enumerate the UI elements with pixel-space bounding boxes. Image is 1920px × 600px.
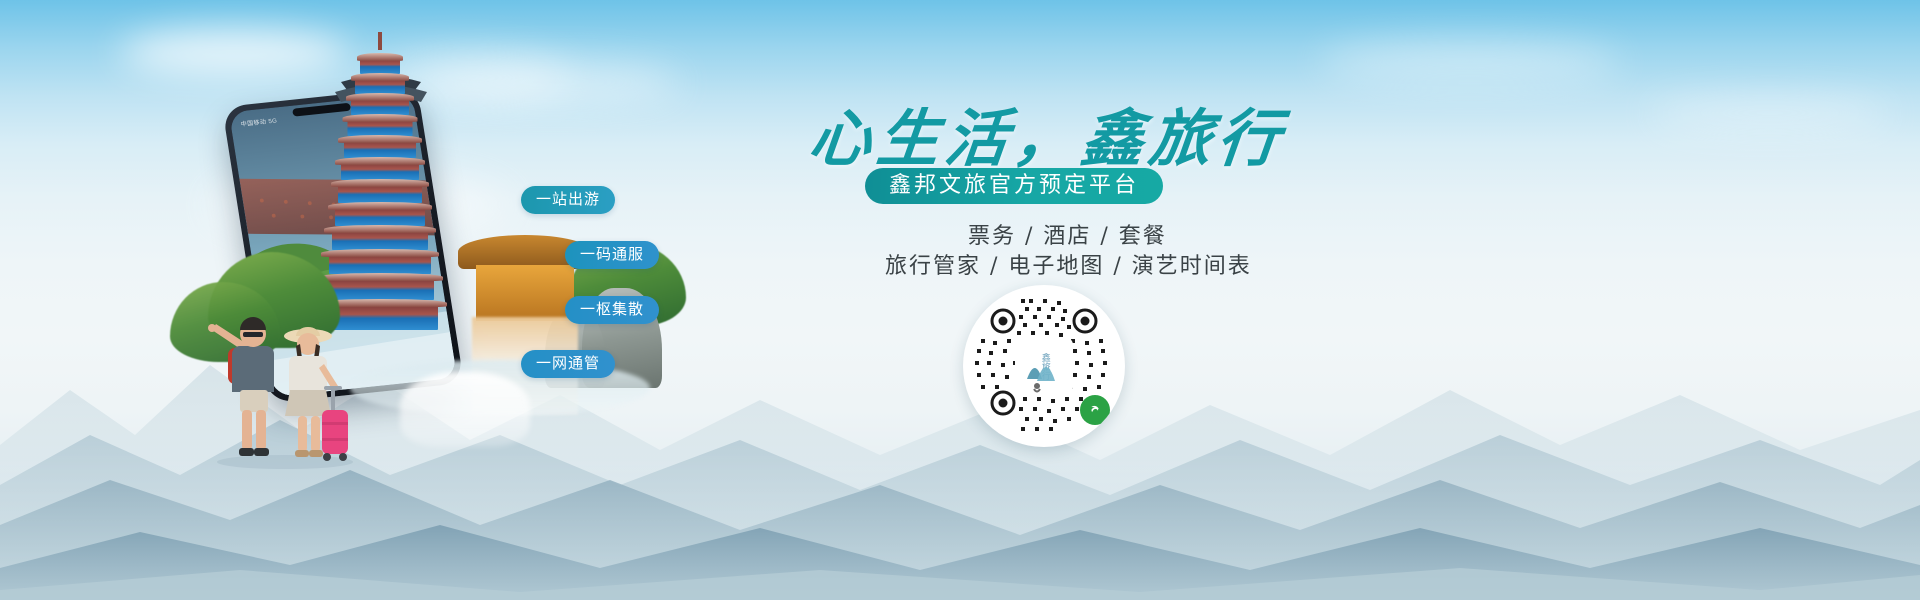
- qr-center-logo: 鑫旅行: [1015, 337, 1073, 395]
- cloud-decoration: [1320, 40, 1620, 84]
- service-line-2: 旅行管家 / 电子地图 / 演艺时间表: [885, 248, 1252, 280]
- traveler-man: [208, 317, 274, 456]
- wechat-miniprogram-qr-code[interactable]: 鑫旅行: [963, 285, 1125, 447]
- promo-banner: 中国移动 5G: [0, 0, 1920, 600]
- feature-pill-4[interactable]: 一网通管: [521, 350, 615, 378]
- feature-pill-3[interactable]: 一枢集散: [565, 296, 659, 324]
- service-line-1: 票务 / 酒店 / 套餐: [968, 218, 1167, 250]
- platform-badge-label: 鑫邦文旅官方预定平台: [889, 173, 1139, 198]
- pavilion-body: [476, 265, 574, 321]
- cloud-decoration: [1650, 95, 1890, 131]
- water-spray: [400, 372, 530, 447]
- travelers-illustration: [190, 290, 380, 470]
- wechat-miniprogram-icon: [1080, 395, 1110, 425]
- phone-scenery-collage: 中国移动 5G: [150, 20, 750, 580]
- platform-badge: 鑫邦文旅官方预定平台: [865, 168, 1163, 204]
- feature-pill-label: 一站出游: [536, 191, 600, 208]
- page-title: 心生活，鑫旅行: [805, 88, 1290, 178]
- feature-pill-2[interactable]: 一码通服: [565, 241, 659, 269]
- feature-pill-1[interactable]: 一站出游: [521, 186, 615, 214]
- feature-pill-label: 一码通服: [580, 246, 644, 263]
- feature-pill-label: 一网通管: [536, 355, 600, 372]
- feature-pill-label: 一枢集散: [580, 301, 644, 318]
